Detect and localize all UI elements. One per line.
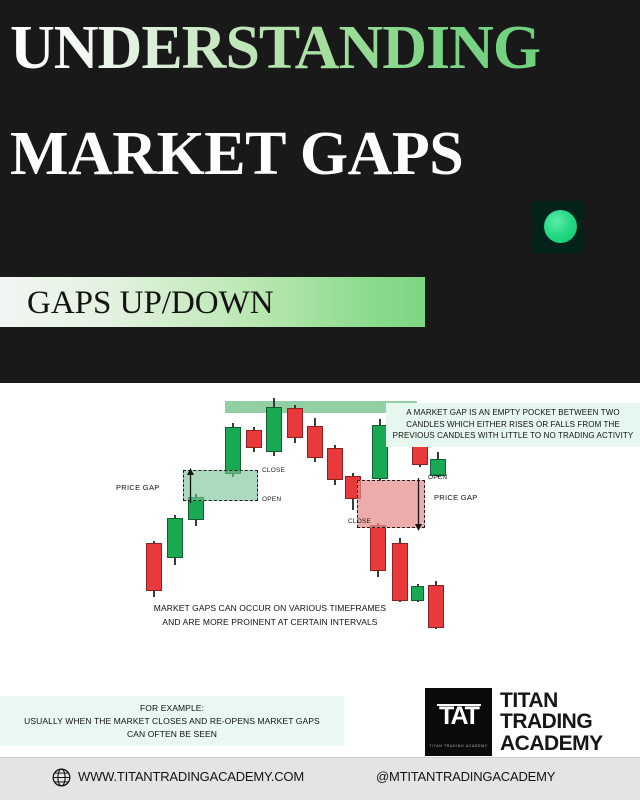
brand-name-line2: TRADING (500, 711, 603, 733)
candle-body (146, 543, 162, 591)
gap-down-arrow-icon (414, 478, 423, 531)
timeframe-note-line1: MARKET GAPS CAN OCCUR ON VARIOUS TIMEFRA… (130, 601, 410, 615)
brand-name-line3: ACADEMY (500, 733, 603, 755)
candle-body (411, 586, 424, 601)
market-gap-definition-box: A MARKET GAP IS AN EMPTY POCKET BETWEEN … (386, 403, 640, 447)
candle-7 (287, 383, 303, 683)
example-line1: FOR EXAMPLE: (140, 702, 204, 715)
candle-2 (167, 383, 183, 683)
brand-logo: TAT TITAN TRADING ACADEMY TITAN TRADING … (425, 688, 640, 756)
candle-6 (266, 383, 282, 683)
candle-body (266, 407, 282, 452)
candle-4 (225, 383, 241, 683)
price-gap-up-label: PRICE GAP (116, 483, 160, 492)
candle-5 (246, 383, 262, 683)
candle-1 (146, 383, 162, 683)
candle-3 (188, 383, 204, 683)
tat-monogram: TAT (425, 702, 492, 731)
brand-name: TITAN TRADING ACADEMY (500, 690, 603, 755)
page-title-line1: UNDERSTANDING (10, 16, 540, 80)
page-title-line2: MARKET GAPS (10, 122, 463, 186)
gap-up-arrow-icon (186, 468, 195, 503)
close-label-right: CLOSE (348, 518, 371, 525)
hero-section: UNDERSTANDING MARKET GAPS GAPS UP/DOWN (0, 0, 640, 383)
candle-body (428, 585, 444, 628)
example-line3: CAN OFTEN BE SEEN (127, 728, 217, 741)
candle-body (287, 408, 303, 438)
candle-10 (345, 383, 361, 683)
timeframe-note: MARKET GAPS CAN OCCUR ON VARIOUS TIMEFRA… (130, 601, 410, 629)
price-gap-down-label: PRICE GAP (434, 493, 478, 502)
candle-body (246, 430, 262, 448)
globe-icon (52, 768, 71, 787)
candle-body (225, 427, 241, 474)
candle-8 (307, 383, 323, 683)
candle-body (370, 525, 386, 571)
close-label-left: CLOSE (262, 467, 285, 474)
brand-name-line1: TITAN (500, 690, 603, 712)
candle-body (392, 543, 408, 601)
example-callout-box: FOR EXAMPLE: USUALLY WHEN THE MARKET CLO… (0, 696, 344, 746)
candle-body (167, 518, 183, 558)
tat-logo-mark: TAT TITAN TRADING ACADEMY (425, 688, 492, 756)
candlestick-chart: PRICE GAP CLOSE OPEN PRICE GAP OPEN CLOS… (0, 383, 640, 683)
example-line2: USUALLY WHEN THE MARKET CLOSES AND RE-OP… (24, 715, 320, 728)
open-label-left: OPEN (262, 496, 281, 503)
green-circle-icon (544, 210, 577, 243)
open-label-right: OPEN (428, 474, 447, 481)
candle-body (327, 448, 343, 480)
market-gap-definition-text: A MARKET GAP IS AN EMPTY POCKET BETWEEN … (390, 407, 636, 442)
tat-monogram-subtext: TITAN TRADING ACADEMY (425, 744, 492, 748)
candle-9 (327, 383, 343, 683)
footer-website[interactable]: WWW.TITANTRADINGACADEMY.COM (78, 769, 304, 784)
footer-social-handle[interactable]: @MTITANTRADINGACADEMY (376, 769, 555, 784)
candle-15 (370, 383, 386, 683)
subtitle-label: GAPS UP/DOWN (27, 286, 274, 320)
timeframe-note-line2: AND ARE MORE PROINENT AT CERTAIN INTERVA… (130, 615, 410, 629)
candle-body (307, 426, 323, 458)
